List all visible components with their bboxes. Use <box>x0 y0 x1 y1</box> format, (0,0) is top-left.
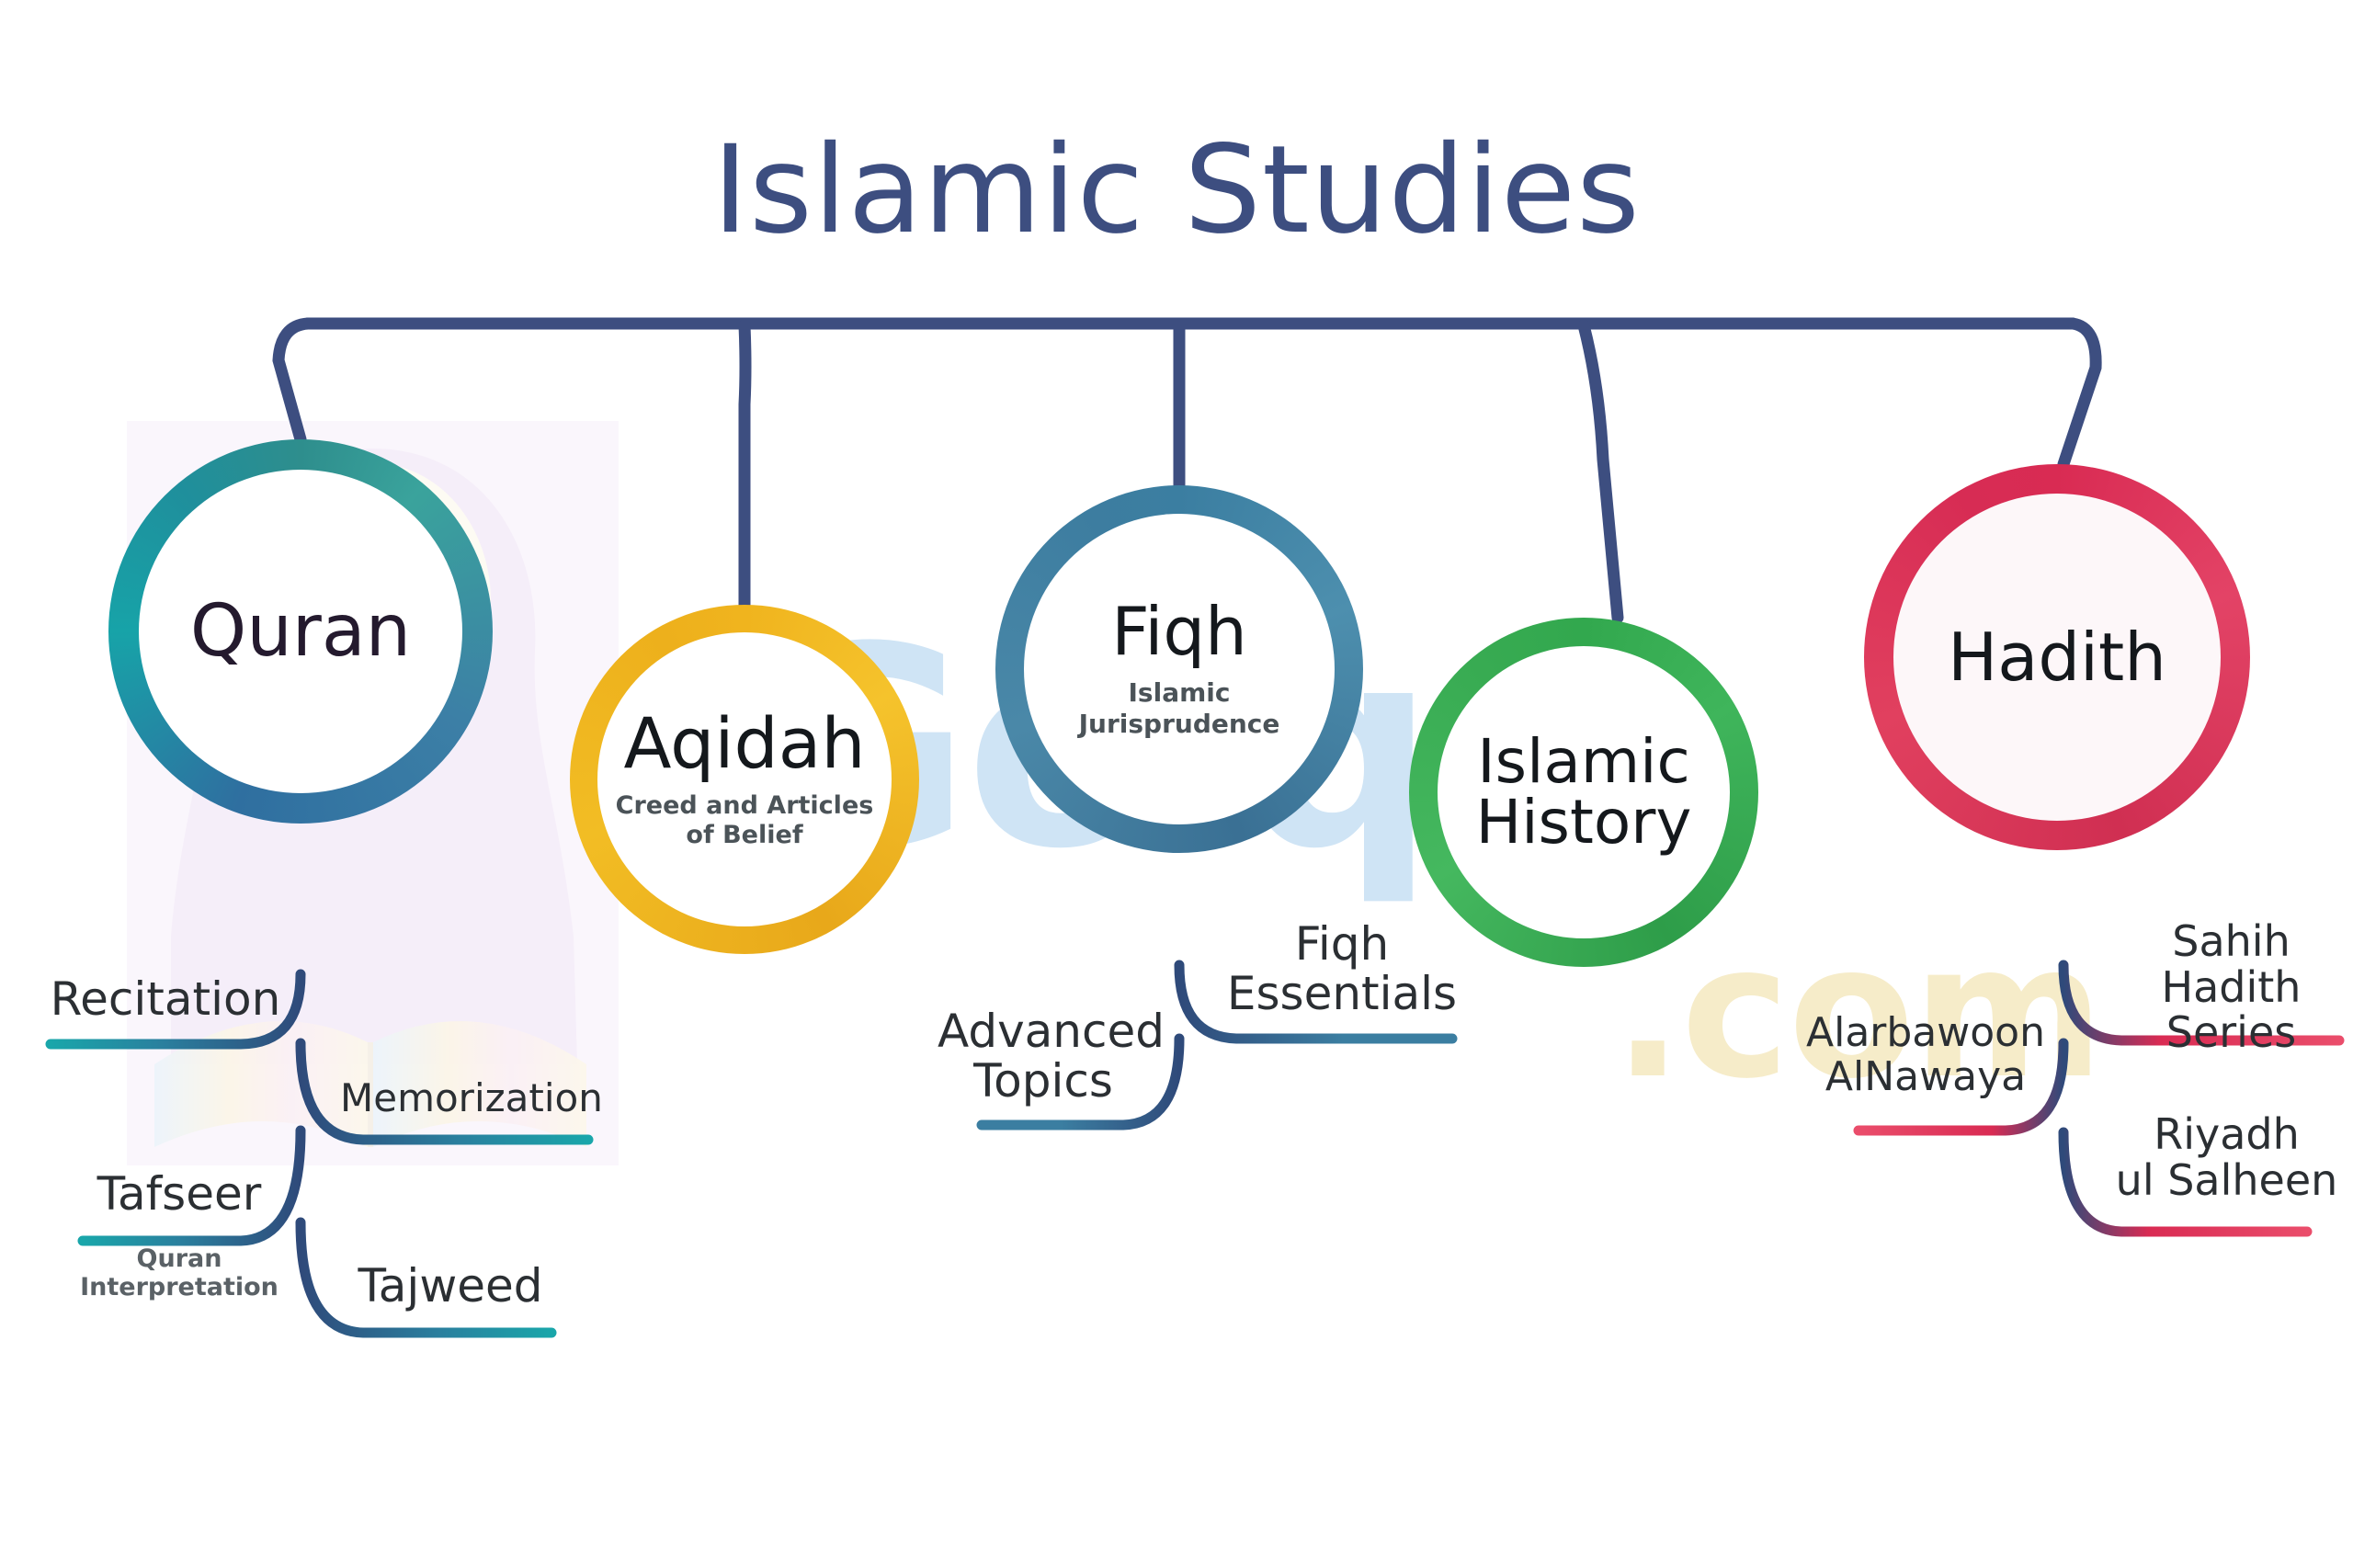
node-aqidah-subtitle: Creed and Articlesof Belief <box>616 791 874 851</box>
node-fiqh-subtitle: IslamicJurisprudence <box>1079 677 1280 739</box>
leaf-recitation-label: Recitation <box>37 974 294 1024</box>
leaf-tajweed[interactable]: Tajweed <box>340 1261 561 1311</box>
leaf-riyadh-ul-salheen-label: Riyadhul Salheen <box>2114 1112 2339 1203</box>
node-quran-label: Quran <box>190 596 411 667</box>
leaf-fiqh-essentials-label: FiqhEssentials <box>1222 919 1461 1018</box>
node-islamic-history-label: IslamicHistory <box>1476 732 1692 853</box>
page-title: Islamic Studies <box>0 119 2353 261</box>
leaf-recitation[interactable]: Recitation <box>37 974 294 1024</box>
leaf-tajweed-label: Tajweed <box>340 1261 561 1311</box>
leaf-tafseer[interactable]: Tafseer QuranInterpretation <box>74 1169 285 1301</box>
node-fiqh[interactable]: Fiqh IslamicJurisprudence <box>995 485 1363 853</box>
leaf-alarbawoon-alnawaya[interactable]: AlarbawoonAlNawaya <box>1806 1011 2045 1098</box>
leaf-sahih-hadith-series-label: SahihHadith Series <box>2109 919 2353 1056</box>
leaf-tafseer-subtitle: QuranInterpretation <box>74 1244 285 1301</box>
leaf-tafseer-label: Tafseer <box>74 1169 285 1219</box>
leaf-alarbawoon-alnawaya-label: AlarbawoonAlNawaya <box>1806 1011 2045 1098</box>
node-aqidah[interactable]: Aqidah Creed and Articlesof Belief <box>570 605 919 954</box>
leaf-advanced-topics-label: AdvancedTopics <box>938 1006 1149 1106</box>
leaf-memorization-label: Memorization <box>340 1077 597 1119</box>
leaf-sahih-hadith-series[interactable]: SahihHadith Series <box>2109 919 2353 1056</box>
leaf-riyadh-ul-salheen[interactable]: Riyadhul Salheen <box>2114 1112 2339 1203</box>
node-quran[interactable]: Quran <box>108 439 493 824</box>
leaf-advanced-topics[interactable]: AdvancedTopics <box>938 1006 1149 1106</box>
leaf-memorization[interactable]: Memorization <box>340 1077 597 1119</box>
node-hadith[interactable]: Hadith <box>1864 464 2250 850</box>
node-hadith-label: Hadith <box>1948 624 2166 690</box>
node-aqidah-label: Aqidah <box>624 709 866 778</box>
leaf-fiqh-essentials[interactable]: FiqhEssentials <box>1222 919 1461 1018</box>
infographic-canvas: Golqra .com Islamic Studies <box>0 0 2353 1568</box>
node-fiqh-label: Fiqh <box>1111 598 1247 665</box>
node-islamic-history[interactable]: IslamicHistory <box>1409 618 1758 967</box>
